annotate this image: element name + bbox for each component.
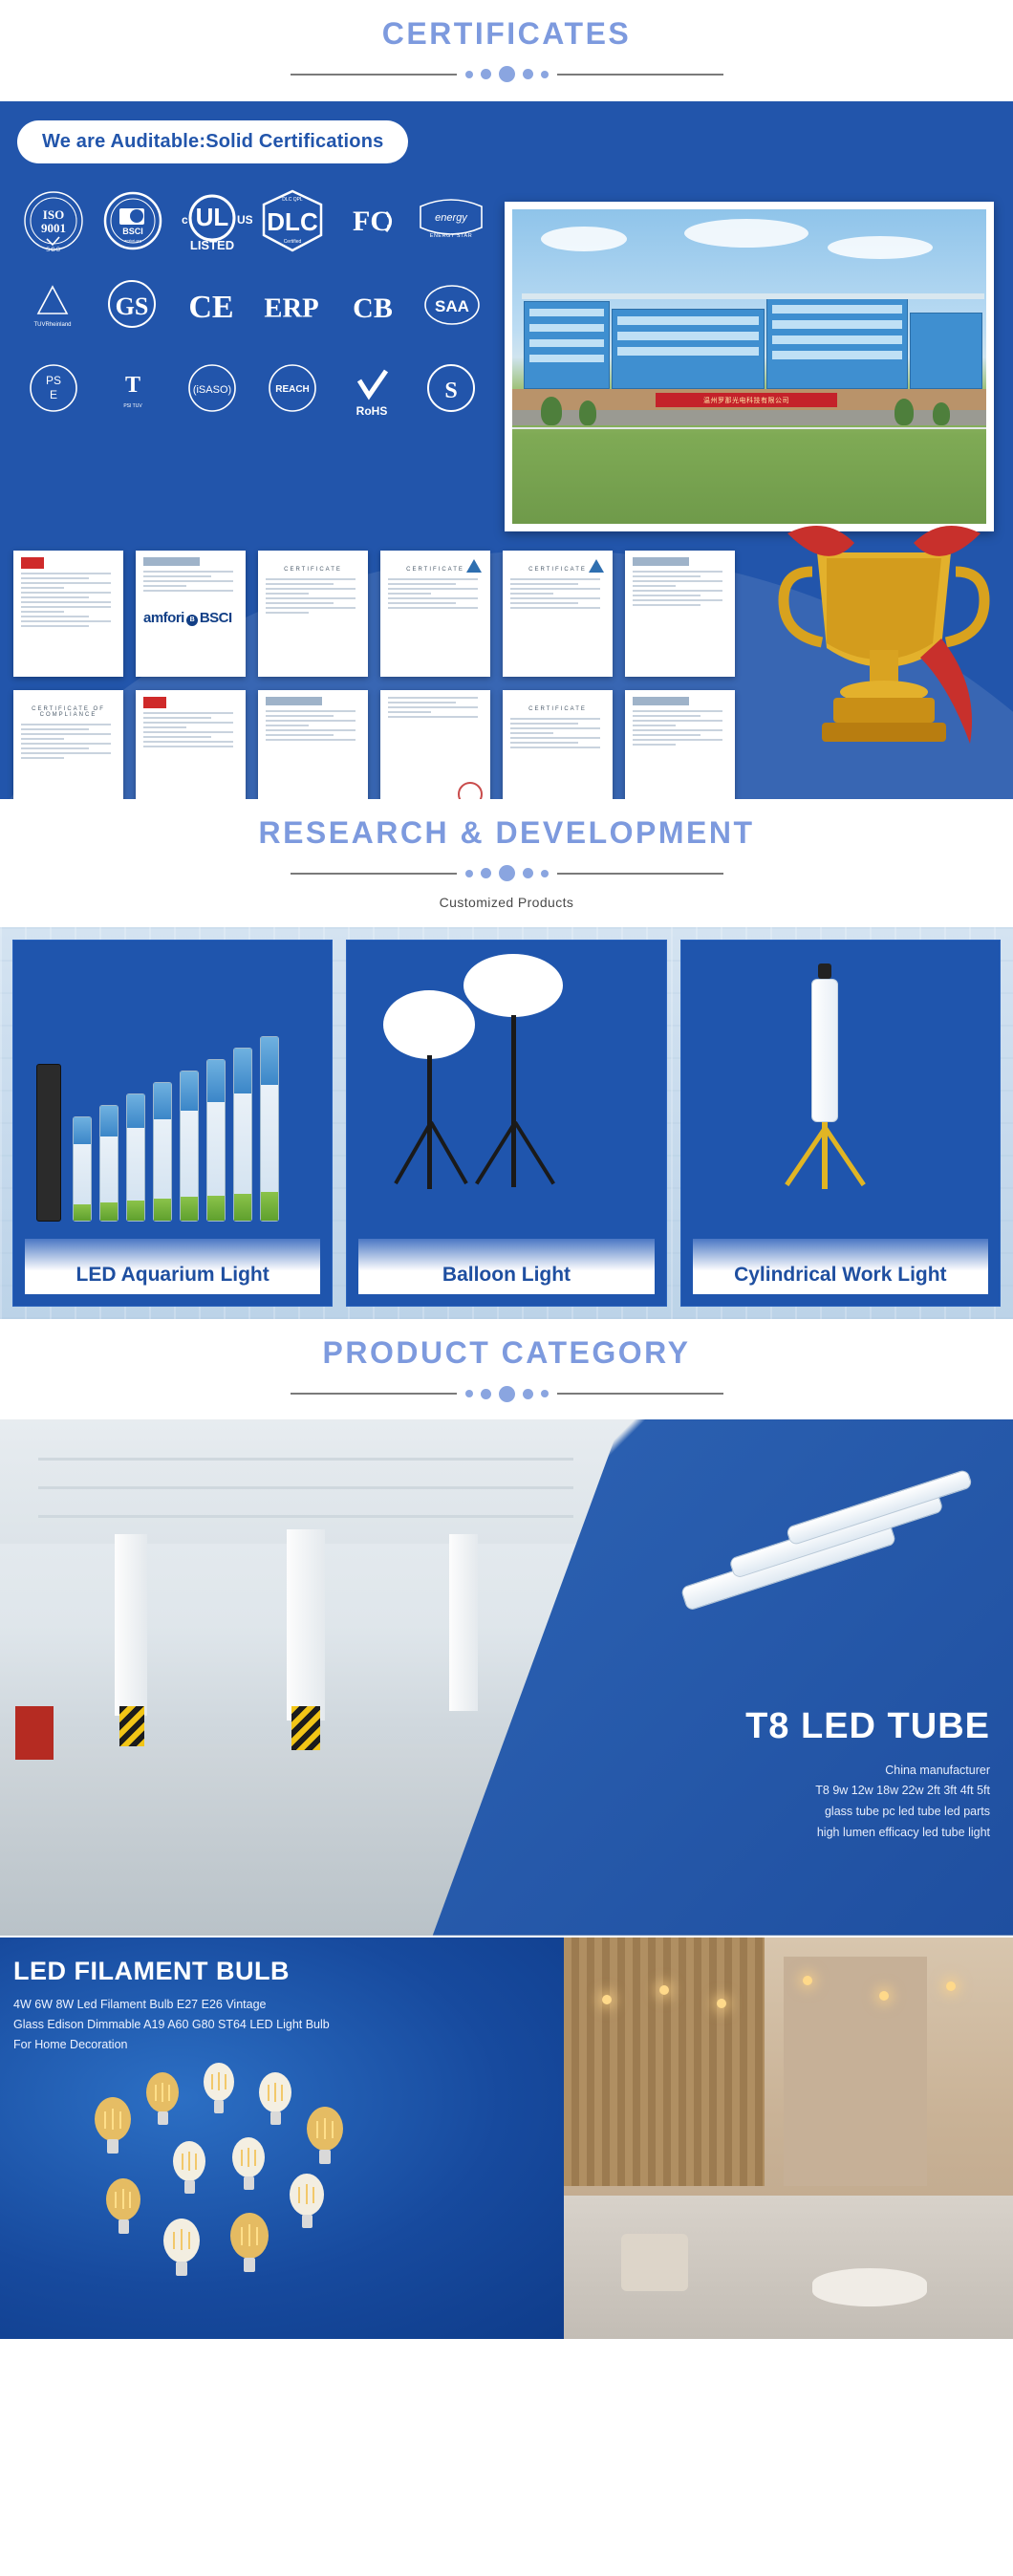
dot-3 — [499, 1386, 515, 1402]
svg-text:SGS: SGS — [46, 248, 61, 253]
svg-text:FC: FC — [353, 206, 391, 237]
certificate-doc-row-2: CERTIFICATE OF COMPLIANCE — [13, 690, 740, 799]
certificate-doc-8[interactable] — [136, 690, 246, 799]
dot-3 — [499, 865, 515, 881]
svg-text:9001: 9001 — [41, 221, 66, 235]
banner-t8-led-tube[interactable]: T8 LED TUBE China manufacturer T8 9w 12w… — [0, 1419, 1013, 1936]
svg-text:REACH: REACH — [275, 384, 310, 395]
certificate-doc-wct[interactable] — [13, 551, 123, 677]
svg-text:RoHS: RoHS — [356, 404, 388, 418]
certificate-doc-6[interactable] — [625, 551, 735, 677]
badge-row-3: PS E T PSI TUV (iSASO) — [13, 354, 491, 424]
certificate-doc-12[interactable] — [625, 690, 735, 799]
gold-trophy-award-icon — [774, 495, 994, 782]
bsci-badge: BSCI amfori.org — [93, 185, 172, 256]
svg-text:T: T — [125, 373, 140, 398]
cb-badge: CB — [333, 270, 412, 340]
dot-group — [465, 865, 549, 881]
filament-line-3: For Home Decoration — [13, 2035, 330, 2055]
rohs-badge: RoHS — [332, 354, 411, 424]
pse-badge: PS E — [13, 354, 93, 424]
t8-line-1: China manufacturer — [745, 1761, 990, 1782]
svg-text:ENERGY STAR: ENERGY STAR — [430, 233, 472, 239]
certificate-doc-7[interactable]: CERTIFICATE OF COMPLIANCE — [13, 690, 123, 799]
certificate-documents: amforiBBSCI CERTIFICATE CERTIFICATE — [13, 551, 740, 799]
svg-text:PS: PS — [46, 374, 61, 387]
t8-line-4: high lumen efficacy led tube light — [745, 1823, 990, 1844]
rd-card-label: Balloon Light — [358, 1239, 654, 1294]
led-aquarium-light-image — [13, 941, 332, 1245]
badge-row-1: ISO 9001 SGS BSCI amfori.org — [13, 185, 491, 256]
t8-line-3: glass tube pc led tube led parts — [745, 1802, 990, 1823]
saa-badge: SAA — [412, 270, 491, 340]
svg-text:amfori.org: amfori.org — [124, 238, 141, 243]
reach-badge: REACH — [252, 354, 332, 424]
research-cards: LED Aquarium Light Balloon Light — [0, 927, 1013, 1319]
svg-text:DLC QPL: DLC QPL — [282, 197, 303, 203]
factory-photo: 温州罗那光电科技有限公司 — [505, 202, 994, 531]
rd-card-label: Cylindrical Work Light — [693, 1239, 988, 1294]
ce-badge: CE — [172, 270, 251, 340]
research-subtitle: Customized Products — [0, 895, 1013, 910]
banner-led-filament-bulb[interactable]: LED FILAMENT BULB 4W 6W 8W Led Filament … — [0, 1937, 1013, 2339]
energy-star-badge: energy ENERGY STAR — [412, 185, 491, 256]
svg-text:LISTED: LISTED — [190, 238, 234, 252]
fcc-badge: FC — [333, 185, 412, 256]
svg-text:UL: UL — [196, 203, 229, 231]
t8-title: T8 LED TUBE — [745, 1706, 990, 1747]
certificate-doc-amfori[interactable]: amforiBBSCI — [136, 551, 246, 677]
dot-group — [465, 1386, 549, 1402]
dot-3 — [499, 66, 515, 82]
research-cards-strip: LED Aquarium Light Balloon Light — [0, 927, 1013, 1319]
svg-text:(iSASO): (iSASO) — [193, 384, 231, 396]
divider-right — [557, 1393, 723, 1395]
rd-card-label: LED Aquarium Light — [25, 1239, 320, 1294]
product-category-section-header: PRODUCT CATEGORY — [0, 1319, 1013, 1401]
svg-text:c: c — [182, 213, 188, 227]
svg-text:ISO: ISO — [42, 207, 63, 222]
certification-badges: ISO 9001 SGS BSCI amfori.org — [13, 185, 491, 438]
dot-1 — [465, 1390, 473, 1397]
dlc-badge: DLC DLC QPL Certified — [252, 185, 332, 256]
t8-description: China manufacturer T8 9w 12w 18w 22w 2ft… — [745, 1761, 990, 1845]
auditable-banner: We are Auditable:Solid Certifications — [17, 120, 408, 163]
filament-line-1: 4W 6W 8W Led Filament Bulb E27 E26 Vinta… — [13, 1995, 330, 2015]
dot-4 — [523, 69, 533, 79]
svg-text:S: S — [445, 379, 458, 403]
ul-listed-badge: c UL US LISTED — [172, 185, 252, 256]
filament-title: LED FILAMENT BULB — [13, 1957, 290, 1986]
iso-9001-badge: ISO 9001 SGS — [13, 185, 93, 256]
dot-2 — [481, 868, 491, 878]
svg-text:energy: energy — [436, 212, 469, 224]
dot-5 — [541, 870, 549, 877]
certificates-block: We are Auditable:Solid Certifications IS… — [0, 101, 1013, 799]
page-root: CERTIFICATES We are Auditable:Solid Cert… — [0, 0, 1013, 2339]
research-section-header: RESEARCH & DEVELOPMENT Customized Produc… — [0, 799, 1013, 910]
certificates-section-header: CERTIFICATES — [0, 0, 1013, 82]
certificate-doc-11[interactable]: CERTIFICATE — [503, 690, 613, 799]
heading-decoration-product — [0, 1386, 1013, 1402]
interior-photo — [564, 1937, 1013, 2339]
svg-text:CB: CB — [353, 292, 393, 324]
svg-text:SAA: SAA — [435, 297, 469, 315]
dot-1 — [465, 71, 473, 78]
divider-left — [291, 1393, 457, 1395]
balloon-light-image — [347, 941, 665, 1245]
erp-badge: ERP — [250, 270, 333, 340]
dot-2 — [481, 69, 491, 79]
divider-right — [557, 873, 723, 875]
heading-decoration-research — [0, 865, 1013, 881]
badge-row-2: TUVRheinland GS CE ERP — [13, 270, 491, 340]
svg-text:PSI TUV: PSI TUV — [123, 403, 142, 409]
dot-5 — [541, 71, 549, 78]
cylindrical-work-light-image — [681, 941, 1000, 1245]
svg-text:ERP: ERP — [265, 293, 319, 324]
svg-text:US: US — [237, 213, 252, 227]
certificate-doc-row-1: amforiBBSCI CERTIFICATE CERTIFICATE — [13, 551, 740, 677]
certificate-doc-5[interactable]: CERTIFICATE — [503, 551, 613, 677]
svg-text:TUVRheinland: TUVRheinland — [34, 322, 72, 328]
svg-text:Certified: Certified — [284, 239, 302, 245]
divider-left — [291, 873, 457, 875]
certificate-doc-10[interactable] — [380, 690, 490, 799]
t8-line-2: T8 9w 12w 18w 22w 2ft 3ft 4ft 5ft — [745, 1781, 990, 1802]
rd-card-cylindrical-work-light[interactable]: Cylindrical Work Light — [680, 940, 1001, 1307]
dot-4 — [523, 1389, 533, 1399]
dot-5 — [541, 1390, 549, 1397]
svg-text:CE: CE — [188, 290, 233, 325]
certificate-doc-3[interactable]: CERTIFICATE — [258, 551, 368, 677]
divider-right — [557, 74, 723, 76]
filament-line-2: Glass Edison Dimmable A19 A60 G80 ST64 L… — [13, 2015, 330, 2035]
psi-tuv-badge: T PSI TUV — [93, 354, 172, 424]
dot-group — [465, 66, 549, 82]
svg-text:DLC: DLC — [267, 207, 318, 236]
heading-decoration — [0, 66, 1013, 82]
dot-2 — [481, 1389, 491, 1399]
product-category-title: PRODUCT CATEGORY — [0, 1336, 1013, 1370]
dot-4 — [523, 868, 533, 878]
sgs-badge: S — [412, 354, 491, 424]
tuv-rheinland-badge: TUVRheinland — [13, 270, 93, 340]
svg-text:E: E — [50, 388, 57, 401]
t8-text-block: T8 LED TUBE China manufacturer T8 9w 12w… — [745, 1706, 990, 1845]
factory-banner-text: 温州罗那光电科技有限公司 — [656, 393, 837, 407]
svg-text:BSCI: BSCI — [122, 227, 143, 236]
page-title: CERTIFICATES — [0, 17, 1013, 51]
dot-1 — [465, 870, 473, 877]
rd-card-led-aquarium-light[interactable]: LED Aquarium Light — [12, 940, 333, 1307]
gs-badge: GS — [93, 270, 172, 340]
research-title: RESEARCH & DEVELOPMENT — [0, 816, 1013, 850]
certificate-doc-4[interactable]: CERTIFICATE — [380, 551, 490, 677]
isaso-badge: (iSASO) — [173, 354, 252, 424]
svg-text:GS: GS — [116, 292, 149, 320]
factory-photo-image: 温州罗那光电科技有限公司 — [512, 209, 986, 524]
filament-description: 4W 6W 8W Led Filament Bulb E27 E26 Vinta… — [13, 1995, 330, 2056]
divider-left — [291, 74, 457, 76]
certificate-doc-9[interactable] — [258, 690, 368, 799]
rd-card-balloon-light[interactable]: Balloon Light — [346, 940, 666, 1307]
